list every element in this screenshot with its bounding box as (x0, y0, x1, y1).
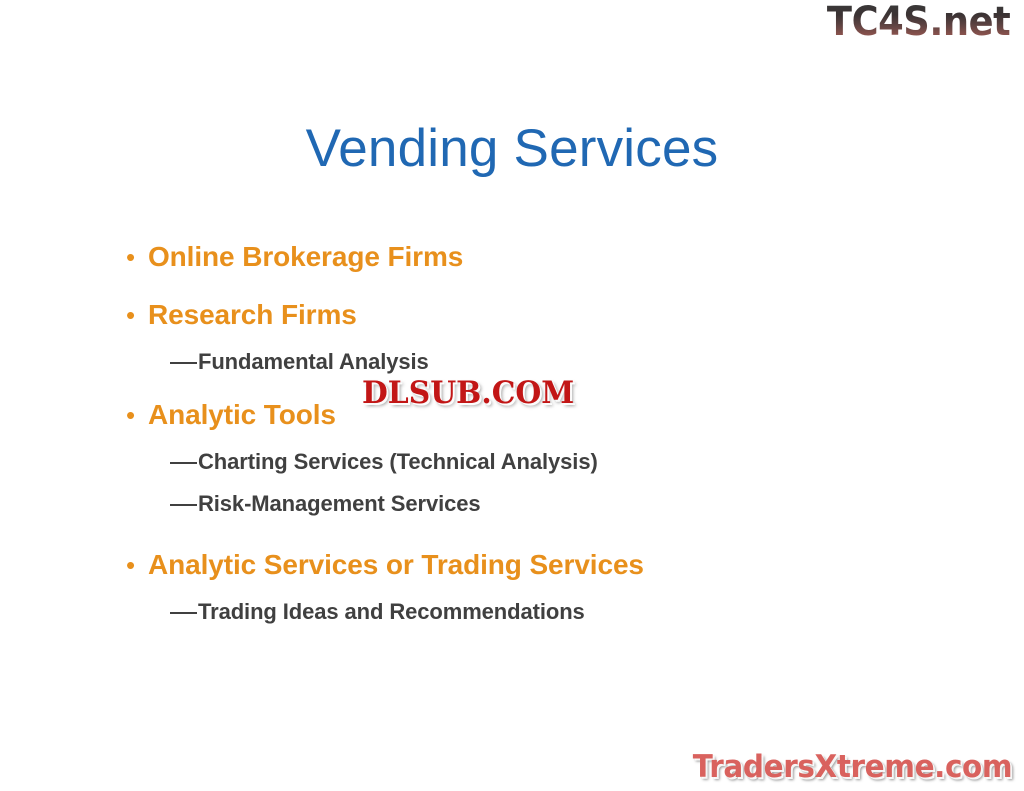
list-item: • Research Firms (118, 296, 918, 336)
list-item-label: Online Brokerage Firms (148, 238, 463, 276)
list-item-label: Research Firms (148, 296, 357, 334)
sub-list-item: Charting Services (Technical Analysis) (118, 446, 918, 478)
sub-list-item: Trading Ideas and Recommendations (118, 596, 918, 628)
em-dash-icon (170, 596, 198, 628)
em-dash-icon (170, 446, 198, 478)
bullet-dot-icon: • (118, 396, 148, 434)
bullet-dot-icon: • (118, 546, 148, 584)
tradersxtreme-watermark: TradersXtreme.com (693, 752, 1012, 783)
bullet-list: • Online Brokerage Firms • Research Firm… (118, 238, 918, 642)
sub-list-item-label: Risk-Management Services (198, 489, 481, 519)
list-item-label: Analytic Services or Trading Services (148, 546, 644, 584)
sub-list-item: Fundamental Analysis (118, 346, 918, 378)
page-title: Vending Services (0, 119, 1024, 178)
list-item-label: Analytic Tools (148, 396, 336, 434)
sub-list-item: Risk-Management Services (118, 488, 918, 520)
bullet-dot-icon: • (118, 296, 148, 334)
sub-list-item-label: Fundamental Analysis (198, 347, 429, 377)
sub-list-item-label: Trading Ideas and Recommendations (198, 597, 585, 627)
em-dash-icon (170, 488, 198, 520)
list-item: • Analytic Services or Trading Services (118, 546, 918, 586)
bullet-dot-icon: • (118, 238, 148, 276)
tc4s-brand-watermark: TC4S.net (827, 2, 1010, 42)
sub-list-item-label: Charting Services (Technical Analysis) (198, 447, 598, 477)
presentation-slide: TC4S.net Vending Services • Online Broke… (0, 0, 1024, 791)
em-dash-icon (170, 346, 198, 378)
dlsub-watermark: DLSUB.COM (362, 378, 574, 409)
list-item: • Online Brokerage Firms (118, 238, 918, 278)
